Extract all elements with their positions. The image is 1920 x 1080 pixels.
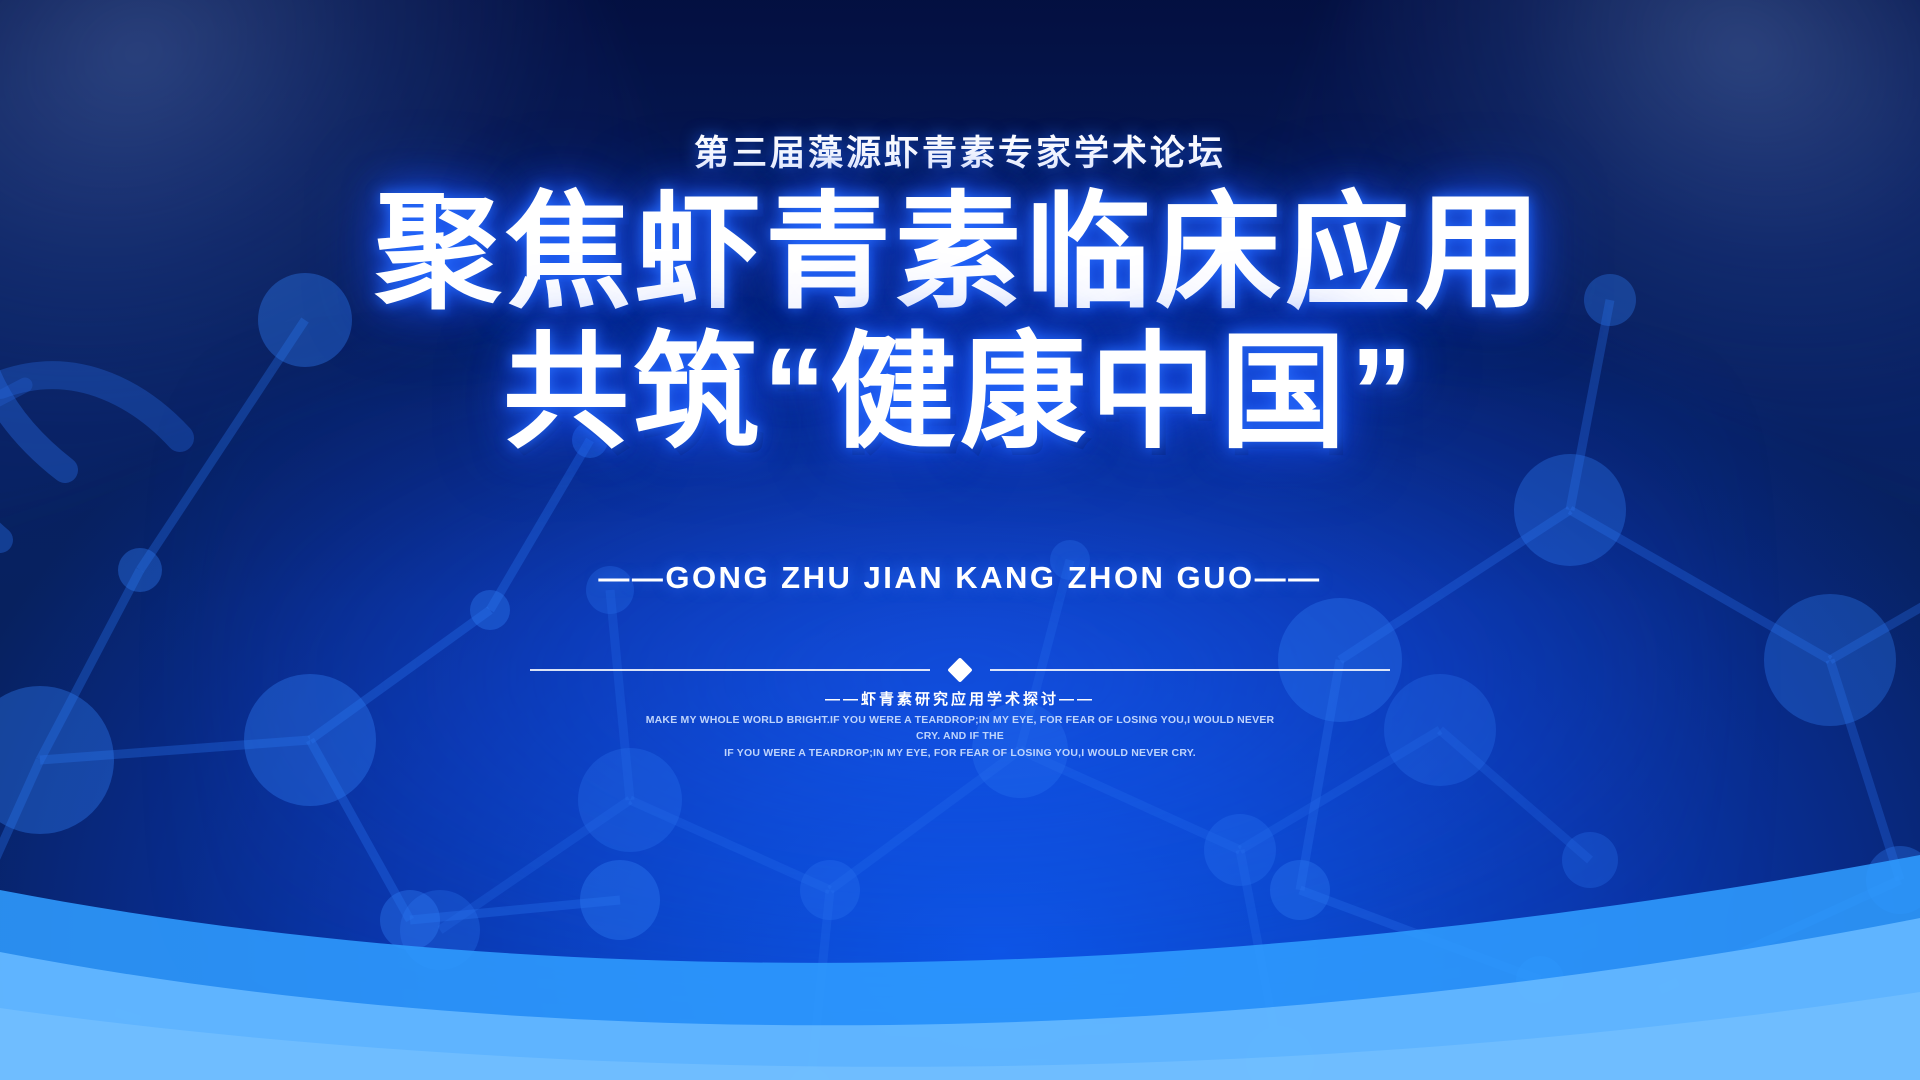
event-subtitle: 第三届藻源虾青素专家学术论坛 <box>0 125 1920 176</box>
divider-rule-left <box>530 669 930 671</box>
poster-canvas: 第三届藻源虾青素专家学术论坛 聚焦虾青素临床应用 共筑“健康中国” ——GONG… <box>0 0 1920 1080</box>
divider-rule-right <box>990 669 1390 671</box>
main-title: 聚焦虾青素临床应用 共筑“健康中国” <box>0 190 1920 456</box>
footer-chinese-tagline: ——虾青素研究应用学术探讨—— <box>0 688 1920 709</box>
title-line-2: 共筑“健康中国” <box>0 330 1920 456</box>
poster-content: 第三届藻源虾青素专家学术论坛 聚焦虾青素临床应用 共筑“健康中国” ——GONG… <box>0 0 1920 1080</box>
footer-english-line-1: MAKE MY WHOLE WORLD BRIGHT.IF YOU WERE A… <box>640 712 1280 745</box>
pinyin-subtitle: ——GONG ZHU JIAN KANG ZHON GUO—— <box>0 560 1920 596</box>
title-line-1: 聚焦虾青素临床应用 <box>0 190 1920 316</box>
diamond-icon <box>947 657 972 682</box>
footer-english-line-2: IF YOU WERE A TEARDROP;IN MY EYE, FOR FE… <box>640 745 1280 761</box>
footer-english-text: MAKE MY WHOLE WORLD BRIGHT.IF YOU WERE A… <box>640 712 1280 761</box>
divider <box>530 655 1390 685</box>
